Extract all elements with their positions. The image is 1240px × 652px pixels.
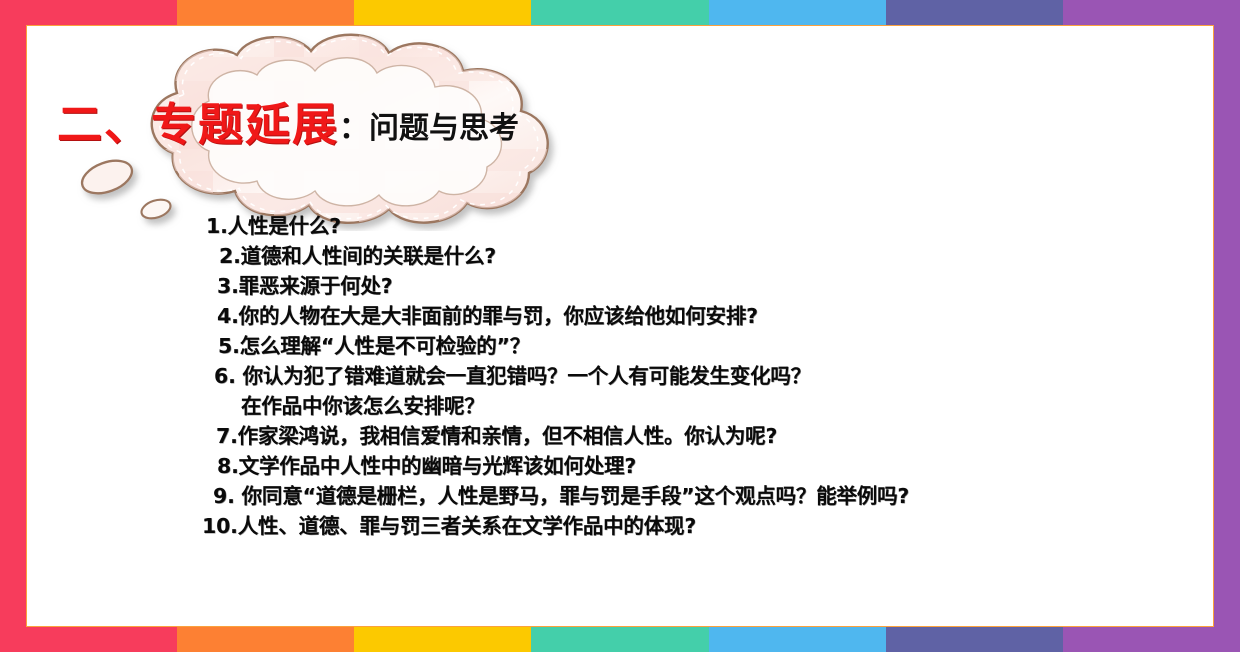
list-item: 7.作家梁鸿说，我相信爱情和亲情，但不相信人性。你认为呢?: [216, 421, 1193, 451]
question-list: 1.人性是什么? 2.道德和人性间的关联是什么? 3.罪恶来源于何处? 4.你的…: [177, 211, 1193, 541]
content-panel: 二、专题延展：问题与思考 1.人性是什么? 2.道德和人性间的关联是什么? 3.…: [26, 25, 1214, 627]
list-item: 9. 你同意“道德是栅栏，人性是野马，罪与罚是手段”这个观点吗？能举例吗?: [213, 481, 1193, 511]
list-item: 10.人性、道德、罪与罚三者关系在文学作品中的体现?: [202, 511, 1193, 541]
title-sub-text: ：问题与思考: [339, 111, 519, 146]
list-item: 4.你的人物在大是大非面前的罪与罚，你应该给他如何安排?: [217, 301, 1193, 331]
list-item: 8.文学作品中人性中的幽暗与光辉该如何处理?: [217, 451, 1193, 481]
list-item: 6. 你认为犯了错难道就会一直犯错吗？一个人有可能发生变化吗？: [214, 361, 1193, 391]
slide-root: 二、专题延展：问题与思考 1.人性是什么? 2.道德和人性间的关联是什么? 3.…: [0, 0, 1240, 652]
title-main-text: 二、专题延展: [57, 98, 339, 151]
page-title: 二、专题延展：问题与思考: [57, 102, 519, 147]
list-item: 2.道德和人性间的关联是什么?: [219, 241, 1193, 271]
list-item: 3.罪恶来源于何处?: [217, 271, 1193, 301]
list-item: 1.人性是什么?: [206, 211, 1193, 241]
list-item: 在作品中你该怎么安排呢？: [241, 391, 1193, 421]
list-item: 5.怎么理解“人性是不可检验的”？: [218, 331, 1193, 361]
